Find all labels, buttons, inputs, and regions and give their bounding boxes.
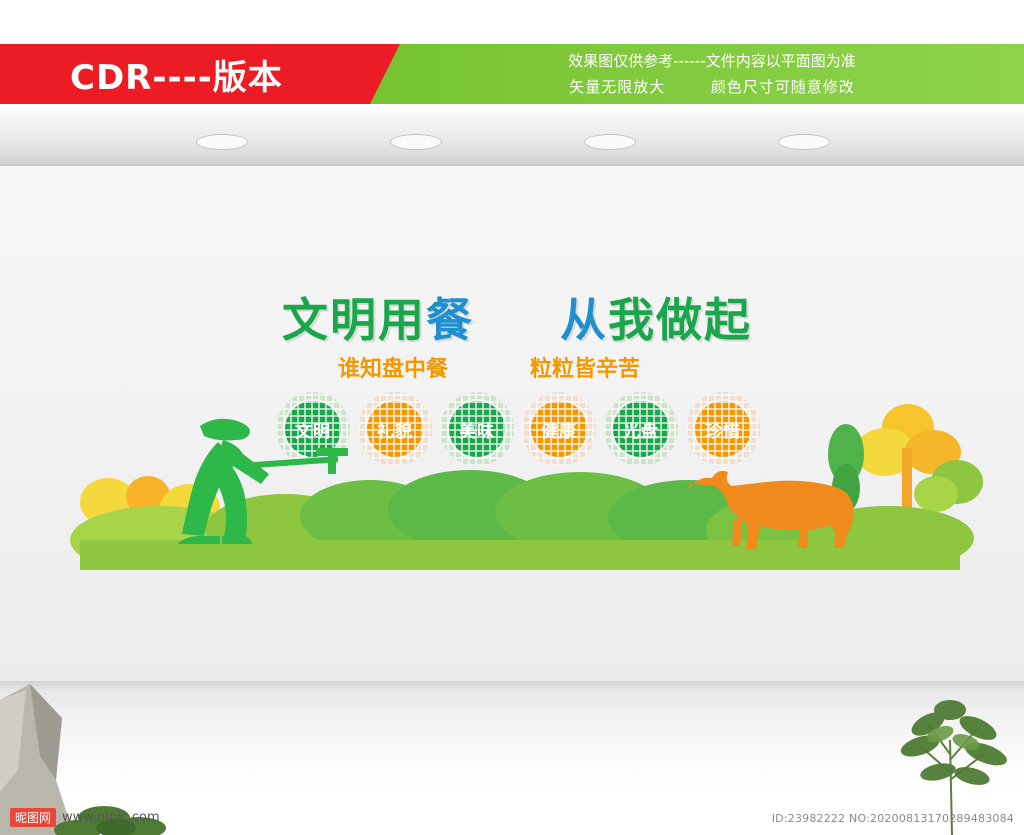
headline-left-part2: 餐 bbox=[426, 293, 474, 347]
banner-note-line-2a: 矢量无限放大 bbox=[569, 74, 665, 100]
headline-right: 从我做起 bbox=[560, 292, 752, 348]
site-url: www.nipic.com bbox=[62, 810, 160, 825]
site-watermark: 昵图网 www.nipic.com bbox=[10, 808, 160, 827]
ceiling-light-4 bbox=[778, 134, 830, 150]
banner-note-line-2: 矢量无限放大 颜色尺寸可随意修改 bbox=[569, 74, 855, 100]
headline-left: 文明用餐 bbox=[282, 292, 474, 348]
banner-note-line-2b: 颜色尺寸可随意修改 bbox=[711, 74, 855, 100]
subline-right: 粒粒皆辛苦 bbox=[530, 356, 640, 384]
subline-left: 谁知盘中餐 bbox=[338, 356, 448, 384]
headline-group: 文明用餐 从我做起 bbox=[262, 292, 782, 348]
banner-notes: 效果图仅供参考------文件内容以平面图为准 矢量无限放大 颜色尺寸可随意修改 bbox=[400, 44, 1024, 104]
headline-right-part1: 从 bbox=[560, 293, 608, 347]
asset-id-label: ID:23982222 NO:20200813170289483084 bbox=[772, 812, 1014, 825]
banner-note-line-1: 效果图仅供参考------文件内容以平面图为准 bbox=[568, 48, 855, 74]
top-banner: CDR----版本 效果图仅供参考------文件内容以平面图为准 矢量无限放大… bbox=[0, 44, 1024, 104]
hoe-tool bbox=[254, 448, 348, 474]
scenery-illustration bbox=[40, 390, 985, 570]
headline-right-part2: 我做起 bbox=[608, 293, 752, 347]
poster-canvas: CDR----版本 效果图仅供参考------文件内容以平面图为准 矢量无限放大… bbox=[0, 0, 1024, 835]
ceiling-soffit bbox=[0, 104, 1024, 166]
banner-brand-label: CDR----版本 bbox=[70, 50, 283, 99]
ceiling-light-3 bbox=[584, 134, 636, 150]
ceiling-light-2 bbox=[390, 134, 442, 150]
ceiling-light-1 bbox=[196, 134, 248, 150]
site-logo: 昵图网 bbox=[10, 808, 56, 827]
headline-left-part1: 文明用 bbox=[282, 293, 426, 347]
